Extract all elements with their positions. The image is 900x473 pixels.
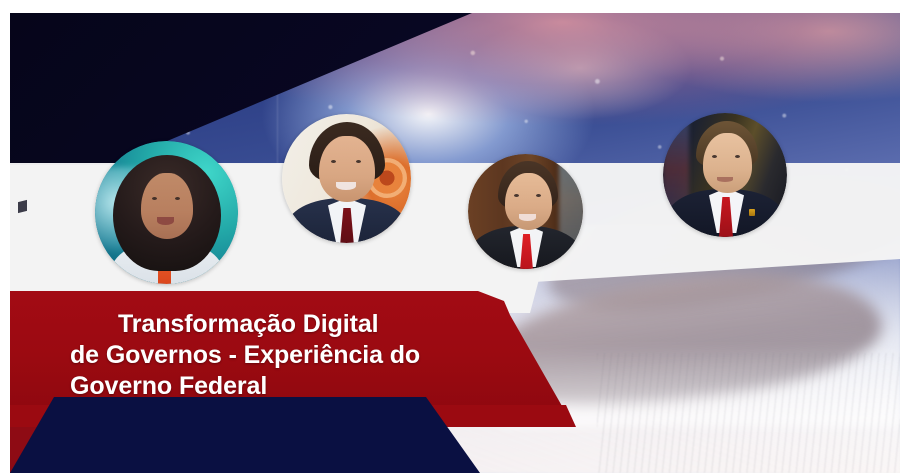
portrait-eye-left [152, 197, 157, 200]
speaker-avatar-3 [468, 154, 583, 269]
presentation-slide: Transformação Digital de Governos - Expe… [0, 0, 900, 473]
speaker-avatar-1 [95, 141, 238, 284]
portrait-eye-right [735, 155, 740, 158]
portrait-eye-left [514, 194, 519, 197]
portrait-eye-right [356, 160, 361, 163]
portrait-mouth [519, 214, 536, 221]
slide-title-line-2: de Governos - Experiência do [70, 340, 500, 371]
paper-document-texture [597, 353, 900, 473]
speaker-portrait-3 [468, 154, 583, 269]
slide-title-line-3: Governo Federal [70, 371, 500, 402]
speaker-portrait-1 [95, 141, 238, 284]
portrait-face [505, 173, 552, 230]
portrait-eye-right [175, 197, 180, 200]
band-edge-tick [18, 200, 27, 213]
portrait-eye-left [331, 160, 336, 163]
portrait-face [141, 173, 193, 239]
portrait-eye-left [712, 155, 717, 158]
slide-canvas: Transformação Digital de Governos - Expe… [10, 13, 900, 473]
portrait-mouth [157, 217, 174, 225]
portrait-face [703, 133, 752, 193]
speaker-portrait-2 [282, 114, 411, 243]
portrait-eye-right [536, 194, 541, 197]
portrait-mouth [336, 182, 356, 190]
slide-title-line-1: Transformação Digital [70, 309, 500, 340]
slide-title: Transformação Digital de Governos - Expe… [70, 309, 500, 402]
speaker-avatar-4 [663, 113, 787, 237]
navy-bottom-band [10, 397, 480, 473]
speaker-portrait-4 [663, 113, 787, 237]
portrait-face [319, 136, 375, 202]
portrait-mouth [717, 177, 733, 182]
portrait-lapel-pin [749, 209, 755, 216]
speaker-avatar-2 [282, 114, 411, 243]
